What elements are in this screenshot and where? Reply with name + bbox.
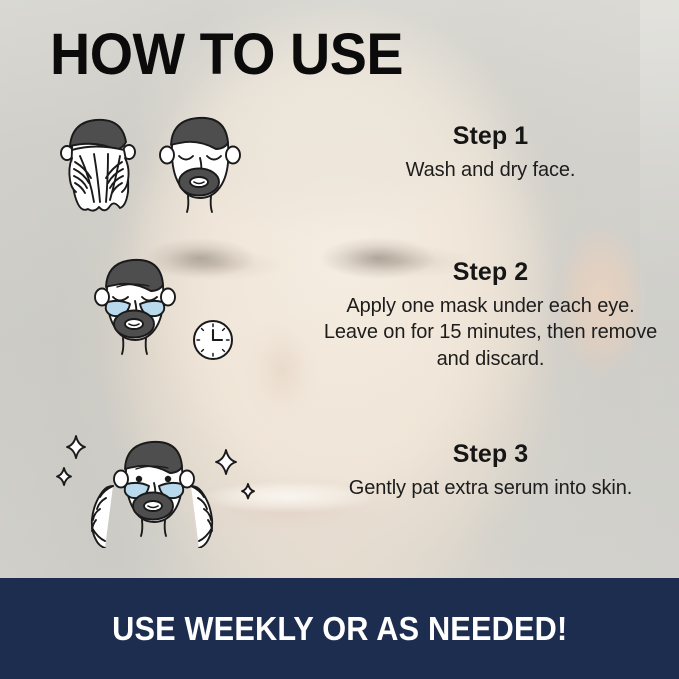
- step-1-body: Wash and dry face.: [320, 157, 661, 183]
- step-row-2: Step 2 Apply one mask under each eye. Le…: [0, 248, 679, 372]
- step-1-title: Step 1: [320, 122, 661, 150]
- step-2-body: Apply one mask under each eye. Leave on …: [320, 293, 661, 372]
- step-2-text-block: Step 2 Apply one mask under each eye. Le…: [320, 248, 679, 372]
- right-hand-icon: [191, 486, 212, 548]
- clock-icon: [194, 321, 232, 359]
- step-1-text-block: Step 1 Wash and dry face.: [320, 112, 679, 183]
- wash-and-dry-face-illustration: [50, 112, 270, 222]
- page-title: HOW TO USE: [50, 26, 403, 84]
- step-row-1: Step 1 Wash and dry face.: [0, 112, 679, 222]
- face-with-eye-masks-icon: [95, 260, 175, 354]
- step-3-title: Step 3: [320, 440, 661, 468]
- step-row-3: Step 3 Gently pat extra serum into skin.: [0, 428, 679, 548]
- face-towel-drying-icon: [61, 120, 135, 211]
- step-3-body: Gently pat extra serum into skin.: [320, 475, 661, 501]
- how-to-use-infographic: HOW TO USE: [0, 0, 679, 679]
- step-2-title: Step 2: [320, 258, 661, 286]
- hands-patting-face-icon: [114, 442, 194, 536]
- footer-banner-text: USE WEEKLY OR AS NEEDED!: [112, 610, 567, 648]
- pat-serum-illustration: [50, 428, 270, 548]
- sparkle-icon: [216, 450, 254, 498]
- clean-face-icon: [160, 118, 240, 212]
- footer-banner: USE WEEKLY OR AS NEEDED!: [0, 578, 679, 679]
- step-3-text-block: Step 3 Gently pat extra serum into skin.: [320, 428, 679, 501]
- step-3-illustration: [0, 428, 320, 548]
- left-hand-icon: [92, 486, 113, 548]
- step-2-illustration: [0, 248, 320, 368]
- step-1-illustration: [0, 112, 320, 222]
- sparkle-icon: [57, 436, 85, 485]
- apply-eye-masks-illustration: [65, 248, 255, 368]
